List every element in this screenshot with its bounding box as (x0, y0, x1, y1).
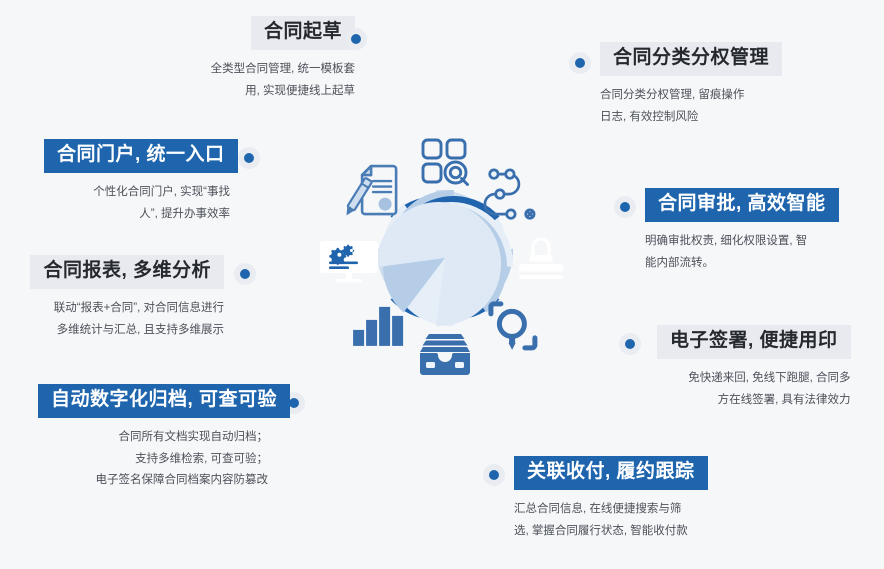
dot-marker-contract-reports[interactable] (234, 263, 256, 285)
chip-receipt-payment-tracking[interactable]: 关联收付, 履约跟踪 (514, 456, 708, 490)
desc-receipt-payment-tracking: 汇总合同信息, 在线便捷搜索与筛 选, 掌握合同履行状态, 智能收付款 (514, 499, 708, 542)
callout-electronic-signing: 电子签署, 便捷用印 免快递来回, 免线下跑腿, 合同多 方在线签署, 具有法律… (657, 325, 851, 411)
dot-marker-contract-drafting[interactable] (345, 28, 367, 50)
desc-line: 汇总合同信息, 在线便捷搜索与筛 (514, 499, 708, 520)
callout-contract-approval: 合同审批, 高效智能 明确审批权责, 细化权限设置, 智 能内部流转。 (645, 188, 839, 274)
desc-contract-portal: 个性化合同门户, 实现“事找 人”, 提升办事效率 (44, 182, 230, 225)
desc-line: 合同所有文档实现自动归档； (38, 427, 268, 448)
infographic-canvas: 合同起草 全类型合同管理, 统一模板套 用, 实现便捷线上起草 合同分类分权管理… (0, 0, 884, 569)
desc-line: 全类型合同管理, 统一模板套 (163, 59, 355, 80)
callout-contract-drafting: 合同起草 全类型合同管理, 统一模板套 用, 实现便捷线上起草 (163, 16, 355, 102)
callout-classification-authority: 合同分类分权管理 合同分类分权管理, 留痕操作 日志, 有效控制风险 (600, 42, 782, 128)
desc-line: 人”, 提升办事效率 (44, 204, 230, 225)
petal-wheel-diagram (270, 58, 620, 458)
dot-marker-receipt-payment-tracking[interactable] (483, 464, 505, 486)
dot-marker-contract-portal[interactable] (238, 147, 260, 169)
desc-contract-approval: 明确审批权责, 细化权限设置, 智 能内部流转。 (645, 231, 839, 274)
desc-contract-drafting: 全类型合同管理, 统一模板套 用, 实现便捷线上起草 (163, 59, 355, 102)
dot-marker-classification-authority[interactable] (569, 52, 591, 74)
callout-contract-portal: 合同门户, 统一入口 个性化合同门户, 实现“事找 人”, 提升办事效率 (44, 139, 230, 225)
desc-contract-reports: 联动“报表+合同”, 对合同信息进行 多维统计与汇总, 且支持多维展示 (20, 298, 224, 341)
callout-contract-reports: 合同报表, 多维分析 联动“报表+合同”, 对合同信息进行 多维统计与汇总, 且… (20, 255, 224, 341)
desc-line: 用, 实现便捷线上起草 (163, 81, 355, 102)
chip-contract-drafting[interactable]: 合同起草 (251, 16, 355, 50)
desc-auto-digital-archive: 合同所有文档实现自动归档； 支持多维检索, 可查可验； 电子签名保障合同档案内容… (38, 427, 268, 491)
desc-line: 能内部流转。 (645, 253, 839, 274)
desc-line: 个性化合同门户, 实现“事找 (44, 182, 230, 203)
monitor-gears-icon (320, 241, 378, 282)
desc-line: 合同分类分权管理, 留痕操作 (600, 85, 782, 106)
chip-electronic-signing[interactable]: 电子签署, 便捷用印 (657, 325, 851, 359)
desc-line: 支持多维检索, 可查可验； (38, 449, 268, 470)
scan-search-icon (491, 304, 535, 350)
chip-contract-reports[interactable]: 合同报表, 多维分析 (30, 255, 224, 289)
desc-line: 日志, 有效控制风险 (600, 107, 782, 128)
callout-receipt-payment-tracking: 关联收付, 履约跟踪 汇总合同信息, 在线便捷搜索与筛 选, 掌握合同履行状态,… (514, 456, 708, 542)
desc-line: 多维统计与汇总, 且支持多维展示 (20, 320, 224, 341)
grid-search-icon (423, 140, 468, 185)
dot-marker-electronic-signing[interactable] (619, 333, 641, 355)
stamp-icon (519, 239, 563, 279)
desc-line: 电子签名保障合同档案内容防篡改 (38, 470, 268, 491)
desc-classification-authority: 合同分类分权管理, 留痕操作 日志, 有效控制风险 (600, 85, 782, 128)
desc-line: 免快递来回, 免线下跑腿, 合同多 (657, 368, 851, 389)
desc-electronic-signing: 免快递来回, 免线下跑腿, 合同多 方在线签署, 具有法律效力 (657, 368, 851, 411)
chip-contract-portal[interactable]: 合同门户, 统一入口 (44, 139, 238, 173)
desc-line: 明确审批权责, 细化权限设置, 智 (645, 231, 839, 252)
chip-classification-authority[interactable]: 合同分类分权管理 (600, 42, 782, 76)
archive-tray-icon (420, 334, 470, 375)
callout-auto-digital-archive: 自动数字化归档, 可查可验 合同所有文档实现自动归档； 支持多维检索, 可查可验… (38, 384, 268, 491)
desc-line: 选, 掌握合同履行状态, 智能收付款 (514, 521, 708, 542)
desc-line: 方在线签署, 具有法律效力 (657, 390, 851, 411)
bar-chart-icon (353, 307, 403, 346)
chip-contract-approval[interactable]: 合同审批, 高效智能 (645, 188, 839, 222)
chip-auto-digital-archive[interactable]: 自动数字化归档, 可查可验 (38, 384, 290, 418)
document-pen-icon (343, 166, 396, 217)
desc-line: 联动“报表+合同”, 对合同信息进行 (20, 298, 224, 319)
dot-marker-contract-approval[interactable] (614, 196, 636, 218)
